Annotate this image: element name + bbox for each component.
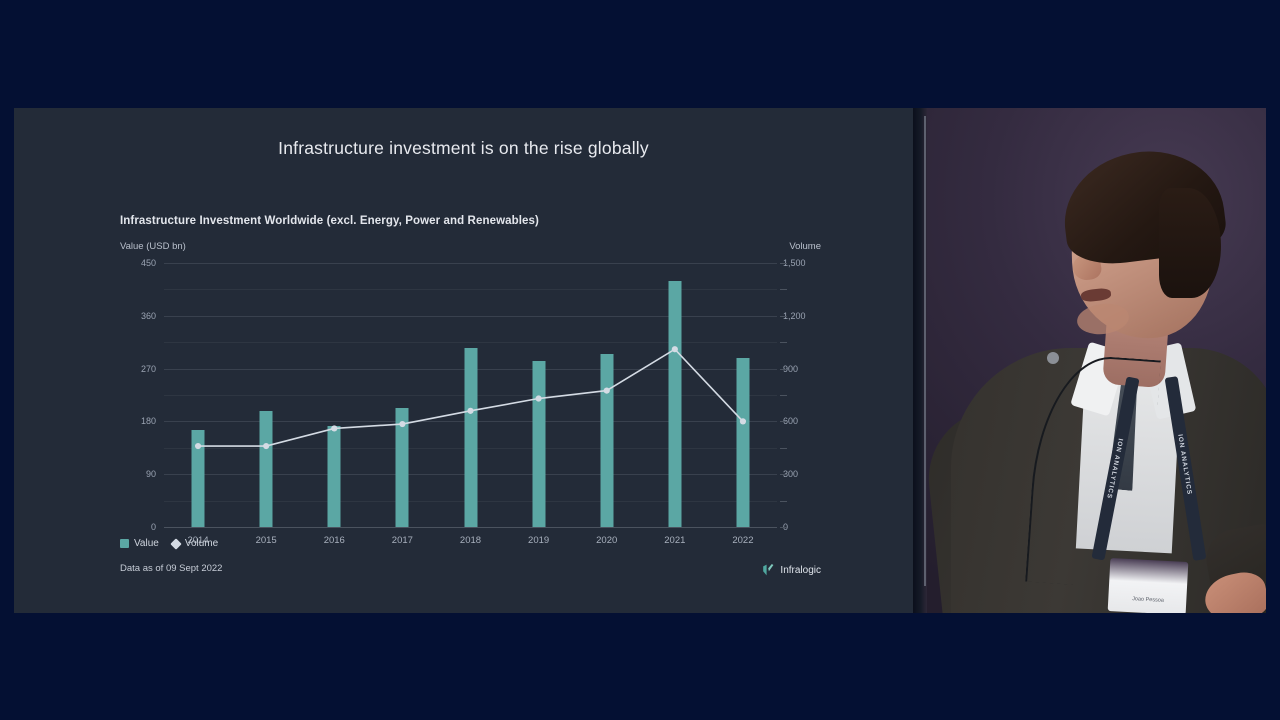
y-axis-right-tickmark: [780, 448, 787, 449]
y-axis-right-tick: 900: [783, 364, 829, 374]
chart-legend: ValueVolume: [120, 538, 218, 549]
diamond-swatch-icon: [170, 538, 181, 549]
video-edge-highlight: [924, 116, 926, 586]
volume-point-2021[interactable]: [672, 346, 678, 352]
y-axis-left-tick: 0: [110, 522, 156, 532]
y-axis-left-tick: 360: [110, 311, 156, 321]
y-axis-right-tick: 300: [783, 469, 829, 479]
y-axis-right-tickmark: [780, 421, 787, 422]
presentation-frame: Infrastructure investment is on the rise…: [14, 108, 1266, 613]
y-axis-right-tick: 0: [783, 522, 829, 532]
y-axis-right-tickmark: [780, 369, 787, 370]
y-axis-left-tick: 450: [110, 258, 156, 268]
axis-baseline: [164, 527, 777, 528]
volume-point-2020[interactable]: [604, 388, 610, 394]
x-axis-label: 2019: [528, 535, 549, 546]
brand-label: Infralogic: [780, 565, 821, 576]
square-swatch-icon: [120, 539, 129, 548]
y-axis-right-tickmark: [780, 263, 787, 264]
volume-point-2014[interactable]: [195, 443, 201, 449]
y-axis-right-tick: 600: [783, 416, 829, 426]
volume-point-2016[interactable]: [331, 425, 337, 431]
chart-plot-area: 09018027036045003006009001,2001,50020142…: [164, 263, 777, 527]
x-axis-label: 2017: [392, 535, 413, 546]
x-axis-label: 2020: [596, 535, 617, 546]
x-axis-label: 2021: [664, 535, 685, 546]
y-axis-right-tickmark: [780, 316, 787, 317]
slide-title: Infrastructure investment is on the rise…: [14, 138, 913, 159]
y-axis-right-tickmark: [780, 342, 787, 343]
y-axis-right-tick: 1,500: [783, 258, 829, 268]
y-axis-left-tick: 180: [110, 416, 156, 426]
microphone-capsule: [1047, 352, 1059, 364]
slide: Infrastructure investment is on the rise…: [14, 108, 913, 613]
x-axis-label: 2015: [256, 535, 277, 546]
infralogic-logo-icon: [762, 563, 775, 577]
screen: Infrastructure investment is on the rise…: [0, 0, 1280, 720]
legend-label: Value: [134, 538, 159, 549]
legend-label: Volume: [185, 538, 218, 549]
y-axis-right-tickmark: [780, 289, 787, 290]
volume-point-2017[interactable]: [399, 421, 405, 427]
volume-point-2019[interactable]: [536, 395, 542, 401]
y-axis-right-tickmark: [780, 474, 787, 475]
volume-line: [198, 349, 743, 446]
y-axis-right-title: Volume: [789, 241, 821, 252]
legend-item-volume[interactable]: Volume: [172, 538, 218, 549]
y-axis-right-tickmark: [780, 395, 787, 396]
chart-heading: Infrastructure Investment Worldwide (exc…: [120, 215, 539, 227]
y-axis-right-tickmark: [780, 527, 787, 528]
infralogic-brand: Infralogic: [762, 563, 821, 577]
x-axis-label: 2022: [732, 535, 753, 546]
y-axis-left-title: Value (USD bn): [120, 241, 186, 252]
speaker-video-pane[interactable]: ION ANALYTICS ION ANALYTICS Joao Pessoa: [913, 108, 1266, 613]
volume-point-2018[interactable]: [467, 408, 473, 414]
y-axis-right-tick: 1,200: [783, 311, 829, 321]
x-axis-label: 2018: [460, 535, 481, 546]
y-axis-left-tick: 270: [110, 364, 156, 374]
volume-point-2015[interactable]: [263, 443, 269, 449]
y-axis-right-tickmark: [780, 501, 787, 502]
chart-footnote: Data as of 09 Sept 2022: [120, 563, 222, 574]
volume-line-series: [164, 263, 777, 527]
legend-item-value[interactable]: Value: [120, 538, 159, 549]
x-axis-label: 2016: [324, 535, 345, 546]
volume-point-2022[interactable]: [740, 418, 746, 424]
y-axis-left-tick: 90: [110, 469, 156, 479]
